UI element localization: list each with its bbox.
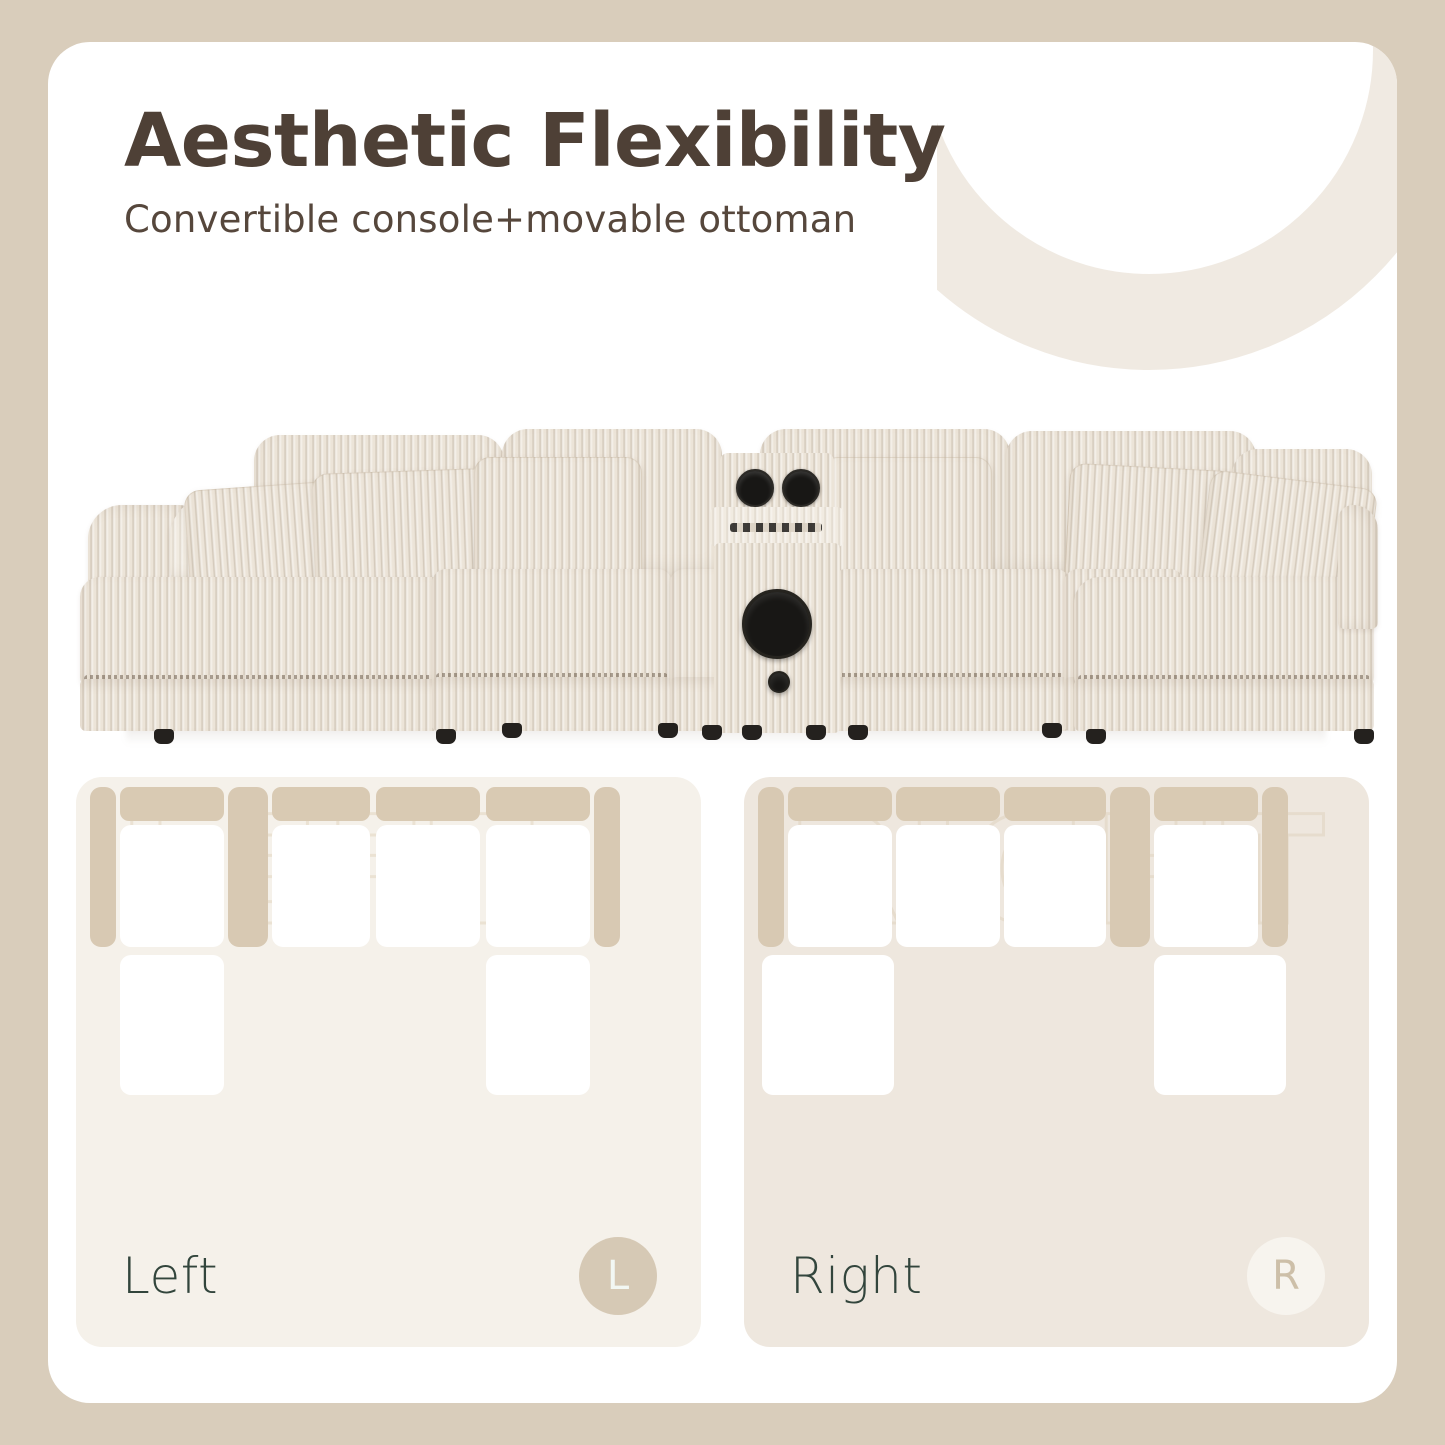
diagram-backrest [486,787,590,821]
sofa-foot [502,723,522,738]
diagram-seat [272,825,370,947]
diagram-armrest [1262,787,1288,947]
sofa-foot [1042,723,1062,738]
diagram-backrest [788,787,892,821]
sofa-foot [1086,729,1106,744]
content-card: Aesthetic Flexibility Convertible consol… [48,42,1397,1403]
sofa-foot [658,723,678,738]
page-title: Aesthetic Flexibility [124,102,946,182]
panel-left-configuration[interactable]: LEFT Left L [76,777,701,1347]
diagram-seat [896,825,1000,947]
diagram-backrest [1004,787,1106,821]
arc-ring-icon [937,42,1397,370]
sofa-foot [848,725,868,740]
badge-right: R [1247,1237,1325,1315]
page-subtitle: Convertible console+movable ottoman [124,198,946,241]
base-module-4 [832,677,1070,731]
base-left-chaise [80,679,470,731]
diagram-backrest [1154,787,1258,821]
diagram-seat [486,825,590,947]
sofa-foot [742,725,762,740]
diagram-console-bar [1110,787,1150,947]
seat-left-chaise [80,577,470,689]
diagram-ottoman [120,955,224,1095]
sofa-foot [702,725,722,740]
panel-left-label: Left [122,1247,218,1305]
sofa-foot [436,729,456,744]
diagram-right [744,777,1369,1197]
sofa-foot [154,729,174,744]
modular-sectional-sofa [66,387,1379,787]
diagram-armrest [758,787,784,947]
seat-module-2 [432,569,672,689]
diagram-left [76,777,701,1197]
seat-right-chaise [1074,577,1374,689]
base-module-2 [432,677,672,731]
usb-charging-strip-icon [730,523,822,532]
diagram-seat [1154,825,1258,947]
panel-right-label: Right [790,1247,922,1305]
panel-right-configuration[interactable]: RIGHT Right R [744,777,1369,1347]
diagram-backrest [120,787,224,821]
diagram-armrest [90,787,116,947]
diagram-seat [788,825,892,947]
diagram-seat [120,825,224,947]
cup-holder-left-icon [736,469,774,507]
header-block: Aesthetic Flexibility Convertible consol… [124,102,946,241]
configuration-panels: LEFT Left L [76,777,1369,1367]
diagram-ottoman [486,955,590,1095]
hero-product-image [66,387,1379,787]
diagram-backrest [272,787,370,821]
diagram-seat [376,825,480,947]
badge-left: L [579,1237,657,1315]
right-armrest [1338,505,1378,629]
sofa-foot [806,725,826,740]
diagram-console-bar [228,787,268,947]
console-port-icon [768,671,790,693]
console-speaker-icon [742,589,812,659]
base-right-chaise [1074,679,1374,731]
diagram-ottoman [1154,955,1286,1095]
diagram-backrest [376,787,480,821]
seat-module-4 [832,569,1070,689]
diagram-backrest [896,787,1000,821]
poster-root: Aesthetic Flexibility Convertible consol… [0,0,1445,1445]
diagram-seat [1004,825,1106,947]
diagram-armrest [594,787,620,947]
diagram-ottoman [762,955,894,1095]
sofa-foot [1354,729,1374,744]
cup-holder-right-icon [782,469,820,507]
